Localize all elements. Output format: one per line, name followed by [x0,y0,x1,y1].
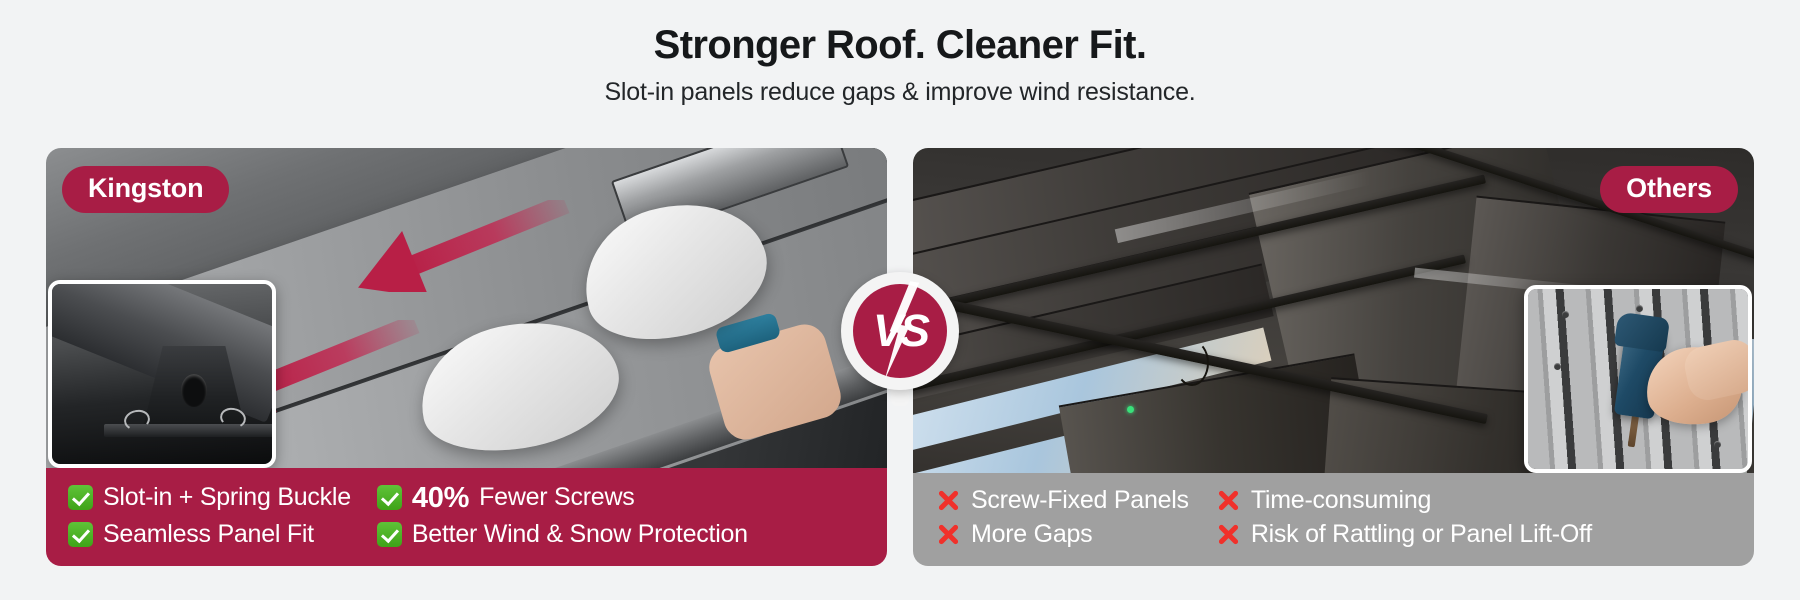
kingston-feature-list: Slot-in + Spring Buckle 40% Fewer Screws… [46,468,887,567]
led-light [1127,406,1134,413]
check-icon [377,485,402,510]
feature-label: Seamless Panel Fit [103,519,314,550]
feature-label: Risk of Rattling or Panel Lift-Off [1251,519,1592,550]
feature-label: Time-consuming [1251,485,1431,516]
cross-icon [1215,487,1241,513]
list-item: Better Wind & Snow Protection [377,519,748,550]
cross-icon [935,487,961,513]
hanging-wire [1175,340,1209,386]
cross-icon [935,521,961,547]
screw-hole [1554,363,1561,370]
banner-header: Stronger Roof. Cleaner Fit. Slot-in pane… [0,0,1800,107]
check-icon [377,522,402,547]
others-inset-image [1524,285,1752,473]
drill-head [1614,311,1670,352]
feature-label: More Gaps [971,519,1092,550]
feature-label: Screw-Fixed Panels [971,485,1189,516]
check-icon [68,485,93,510]
page-subtitle: Slot-in panels reduce gaps & improve win… [0,78,1800,107]
screw-hole [1714,441,1721,448]
versus-badge: VS [841,272,959,390]
list-item: Slot-in + Spring Buckle [68,480,351,516]
screw-hole [1636,305,1643,312]
list-item: Seamless Panel Fit [68,519,351,550]
list-item: Risk of Rattling or Panel Lift-Off [1215,519,1592,550]
feature-label: Better Wind & Snow Protection [412,519,748,550]
kingston-badge: Kingston [62,166,229,213]
kingston-inset-image [48,280,276,468]
others-feature-list: Screw-Fixed Panels Time-consuming More G… [913,473,1754,567]
feature-label: Slot-in + Spring Buckle [103,482,351,513]
feature-label: Fewer Screws [479,482,634,513]
check-icon [68,522,93,547]
others-photo: Others [913,148,1754,473]
screw-hole [1562,311,1569,318]
list-item: 40% Fewer Screws [377,480,748,516]
others-panel: Others [913,148,1754,566]
list-item: Time-consuming [1215,485,1592,516]
list-item: More Gaps [935,519,1189,550]
list-item: Screw-Fixed Panels [935,485,1189,516]
kingston-panel: Kingston Slot-in + Spring Buckle [46,148,887,566]
cross-icon [1215,521,1241,547]
others-badge: Others [1600,166,1738,213]
comparison-banner: Stronger Roof. Cleaner Fit. Slot-in pane… [0,0,1800,600]
feature-emphasis: 40% [412,480,469,516]
page-title: Stronger Roof. Cleaner Fit. [0,22,1800,68]
kingston-photo: Kingston [46,148,887,468]
bracket-hole [181,374,207,407]
motion-arrow-upper-icon [346,200,576,292]
